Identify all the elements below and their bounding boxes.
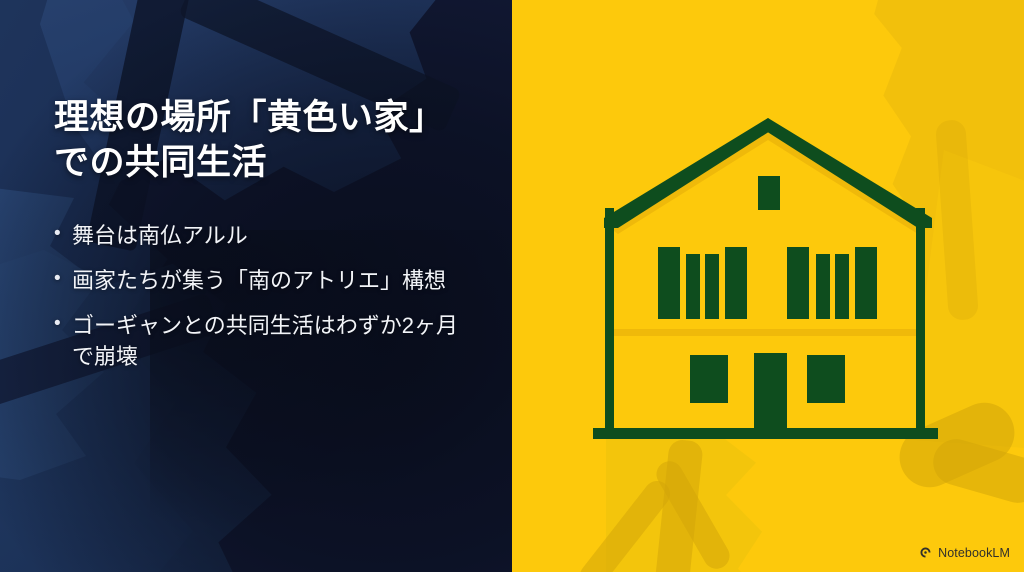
list-item: • 画家たちが集う「南のアトリエ」構想 <box>54 265 474 296</box>
right-illustration-panel: NotebookLM <box>512 0 1024 572</box>
bullet-list: • 舞台は南仏アルル • 画家たちが集う「南のアトリエ」構想 • ゴーギャンとの… <box>54 220 474 373</box>
upper-left-shutter-left <box>658 247 680 319</box>
house-right-wall <box>916 208 925 438</box>
notebooklm-watermark: NotebookLM <box>918 545 1010 560</box>
page-title: 理想の場所「黄色い家」 での共同生活 <box>54 96 474 186</box>
list-item: • 舞台は南仏アルル <box>54 220 474 251</box>
text-content-block: 理想の場所「黄色い家」 での共同生活 • 舞台は南仏アルル • 画家たちが集う「… <box>54 96 474 387</box>
list-item: • ゴーギャンとの共同生活はわずか2ヶ月で崩壊 <box>54 310 474 372</box>
upper-right-shutter-left <box>787 247 809 319</box>
bullet-text: 画家たちが集う「南のアトリエ」構想 <box>72 265 474 296</box>
upper-left-shutter-right <box>725 247 747 319</box>
upper-left-pane-1 <box>686 254 700 319</box>
bullet-marker-icon: • <box>54 265 72 294</box>
watermark-label: NotebookLM <box>938 546 1010 560</box>
yellow-house-illustration <box>512 0 1024 572</box>
house-group <box>593 118 938 439</box>
bullet-text: ゴーギャンとの共同生活はわずか2ヶ月で崩壊 <box>72 310 474 372</box>
slide-root: 理想の場所「黄色い家」 での共同生活 • 舞台は南仏アルル • 画家たちが集う「… <box>0 0 1024 572</box>
upper-right-pane-2 <box>835 254 849 319</box>
upper-left-pane-2 <box>705 254 719 319</box>
left-text-panel: 理想の場所「黄色い家」 での共同生活 • 舞台は南仏アルル • 画家たちが集う「… <box>0 0 512 572</box>
floor-divider-band <box>605 329 925 336</box>
bullet-marker-icon: • <box>54 220 72 249</box>
bullet-marker-icon: • <box>54 310 72 339</box>
upper-right-shutter-right <box>855 247 877 319</box>
bullet-text: 舞台は南仏アルル <box>72 220 474 251</box>
notebooklm-spiral-icon <box>918 545 933 560</box>
upper-right-pane-1 <box>816 254 830 319</box>
house-left-wall <box>605 208 614 438</box>
ground-window-right <box>807 355 845 403</box>
attic-window <box>758 176 780 210</box>
front-door <box>754 353 787 431</box>
ground-window-left <box>690 355 728 403</box>
